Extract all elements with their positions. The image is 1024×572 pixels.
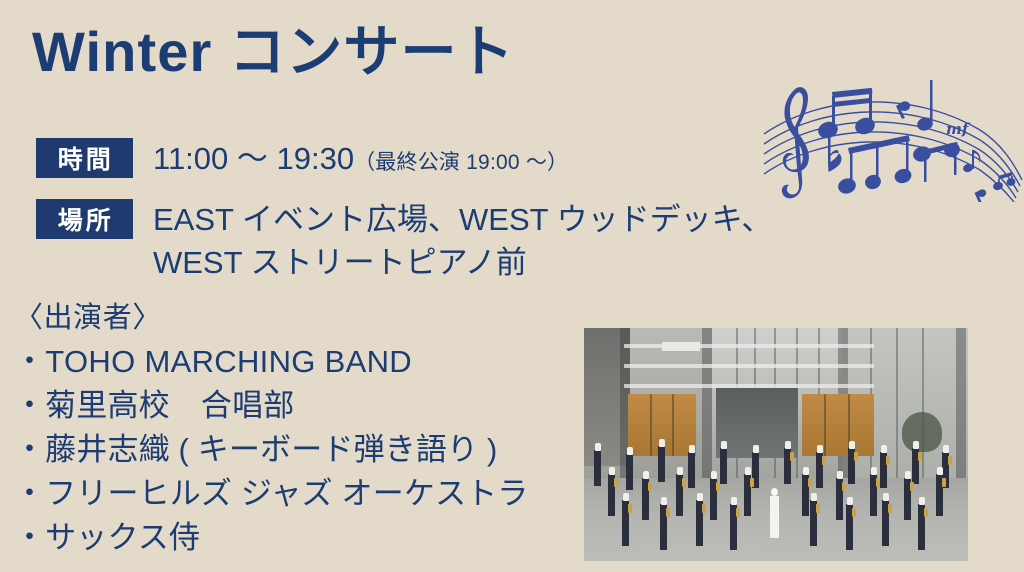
band-member xyxy=(880,452,887,488)
info-row-time: 時間 11:00 ～ 19:30（最終公演 19:00 ～） xyxy=(36,138,568,179)
place-text: EAST イベント広場、WEST ウッドデッキ、 WEST ストリートピアノ前 xyxy=(153,199,772,283)
entrance-door-right xyxy=(802,394,874,456)
time-value: 11:00 ～ 19:30 xyxy=(153,141,354,176)
shrubbery xyxy=(902,412,942,452)
performer-item: ・フリーヒルズ ジャズ オーケストラ xyxy=(14,472,528,516)
performer-item: ・TOHO MARCHING BAND xyxy=(14,340,528,384)
performers-block: 〈出演者〉 ・TOHO MARCHING BAND ・菊里高校 合唱部 ・藤井志… xyxy=(14,296,528,560)
poster-canvas: Winter コンサート mf xyxy=(0,0,1024,572)
band-member xyxy=(608,474,615,516)
band-member xyxy=(836,478,843,520)
band-member xyxy=(904,478,911,520)
band-member xyxy=(626,454,633,490)
band-member xyxy=(816,452,823,488)
band-member xyxy=(730,504,737,550)
band-member xyxy=(802,474,809,516)
band-member xyxy=(848,448,855,484)
page-title: Winter コンサート xyxy=(32,20,515,84)
band-member xyxy=(870,474,877,516)
band-member xyxy=(918,504,925,550)
time-note: （最終公演 19:00 ～） xyxy=(354,151,568,174)
band-member xyxy=(846,504,853,550)
band-member xyxy=(622,500,629,546)
music-staff-icon: mf xyxy=(762,72,1024,202)
band-member xyxy=(658,446,665,482)
time-text: 11:00 ～ 19:30（最終公演 19:00 ～） xyxy=(153,138,568,179)
band-member xyxy=(594,450,601,486)
band-member xyxy=(810,500,817,546)
badge-time: 時間 xyxy=(36,138,133,178)
place-line-1: EAST イベント広場、WEST ウッドデッキ、 xyxy=(153,202,772,237)
band-member xyxy=(720,448,727,484)
band-member xyxy=(660,504,667,550)
badge-place: 場所 xyxy=(36,199,133,239)
info-row-place: 場所 EAST イベント広場、WEST ウッドデッキ、 WEST ストリートピア… xyxy=(36,199,772,283)
facade-ledge xyxy=(624,364,874,368)
door-divider xyxy=(650,394,652,456)
svg-text:mf: mf xyxy=(946,120,971,138)
band-member xyxy=(676,474,683,516)
band-member xyxy=(936,474,943,516)
band-member xyxy=(688,452,695,488)
band-member xyxy=(784,448,791,484)
band-member xyxy=(912,448,919,484)
place-line-2: WEST ストリートピアノ前 xyxy=(153,242,772,283)
band-member xyxy=(642,478,649,520)
performers-heading: 〈出演者〉 xyxy=(14,296,528,340)
performer-item: ・藤井志織 ( キーボード弾き語り ) xyxy=(14,428,528,472)
band-member xyxy=(696,500,703,546)
window-mullion xyxy=(896,328,898,478)
facade-panel xyxy=(702,328,712,478)
conductor xyxy=(770,496,779,538)
door-divider xyxy=(672,394,674,456)
marching-band-photo xyxy=(584,328,968,561)
door-divider xyxy=(824,394,826,456)
band-member xyxy=(710,478,717,520)
band-member xyxy=(744,474,751,516)
band-member xyxy=(882,500,889,546)
building-sign xyxy=(662,342,700,351)
performer-item: ・サックス侍 xyxy=(14,516,528,560)
performer-item: ・菊里高校 合唱部 xyxy=(14,384,528,428)
facade-panel xyxy=(956,328,966,478)
window-mullion xyxy=(922,328,924,478)
